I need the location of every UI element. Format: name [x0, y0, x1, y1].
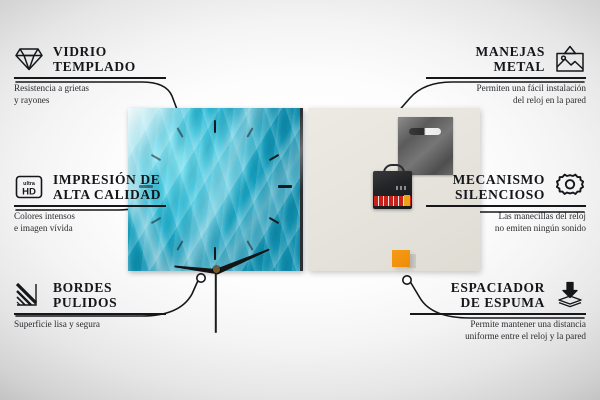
hour-tick-6	[214, 247, 216, 260]
callout-espaciador-espuma: ESPACIADOR DE ESPUMA Permite mantener un…	[410, 280, 586, 342]
callout-title: IMPRESIÓN DE ALTA CALIDAD	[53, 172, 161, 202]
callout-bordes-pulidos: BORDES PULIDOS Superficie lisa y segura	[14, 280, 166, 330]
picture-hanger-icon	[554, 45, 586, 73]
battery-terminal	[404, 195, 410, 206]
callout-rule	[14, 313, 166, 315]
callout-impresion-alta-calidad: ultra HD IMPRESIÓN DE ALTA CALIDAD Color…	[14, 172, 166, 234]
polished-edges-icon	[14, 282, 44, 308]
callout-subtitle: Permiten una fácil instalación del reloj…	[426, 82, 586, 107]
callout-mecanismo-silencioso: MECANISMO SILENCIOSO Las manecillas del …	[426, 172, 586, 234]
callout-subtitle: Permite mantener una distancia uniforme …	[410, 318, 586, 343]
callout-subtitle: Las manecillas del reloj no emiten ningú…	[426, 210, 586, 235]
callout-vidrio-templado: VIDRIO TEMPLADO Resistencia a grietas y …	[14, 44, 166, 106]
connector-dot-bordes	[197, 274, 205, 282]
callout-subtitle: Superficie lisa y segura	[14, 318, 166, 330]
gear-icon	[554, 173, 586, 201]
ultra-hd-icon-bottom: HD	[22, 187, 36, 198]
diamond-icon	[14, 46, 44, 72]
callout-rule	[14, 205, 166, 207]
callout-title: MECANISMO SILENCIOSO	[453, 172, 545, 202]
callout-subtitle: Resistencia a grietas y rayones	[14, 82, 166, 107]
infographic-canvas: VIDRIO TEMPLADO Resistencia a grietas y …	[0, 0, 600, 400]
metal-hanger-plate	[398, 117, 453, 175]
callout-rule	[410, 313, 586, 315]
callout-manejas-metal: MANEJAS METAL Permiten una fácil instala…	[426, 44, 586, 106]
callout-title: ESPACIADOR DE ESPUMA	[451, 280, 545, 310]
callout-subtitle: Colores intensos e imagen vívida	[14, 210, 166, 235]
callout-title: VIDRIO TEMPLADO	[53, 44, 136, 74]
clock-second-hand	[215, 271, 217, 333]
movement-detail	[396, 186, 408, 190]
hour-tick-12	[214, 120, 216, 133]
callout-rule	[426, 205, 586, 207]
foam-spacer	[392, 250, 410, 267]
hanger-slot	[409, 128, 441, 135]
callout-title: MANEJAS METAL	[476, 44, 545, 74]
ultra-hd-icon: ultra HD	[14, 174, 44, 200]
callout-title: BORDES PULIDOS	[53, 280, 117, 310]
foam-spacer-icon	[554, 281, 586, 309]
clock-center-cap	[213, 266, 220, 273]
callout-rule	[14, 77, 166, 79]
callout-rule	[426, 77, 586, 79]
hour-tick-3	[278, 185, 292, 188]
